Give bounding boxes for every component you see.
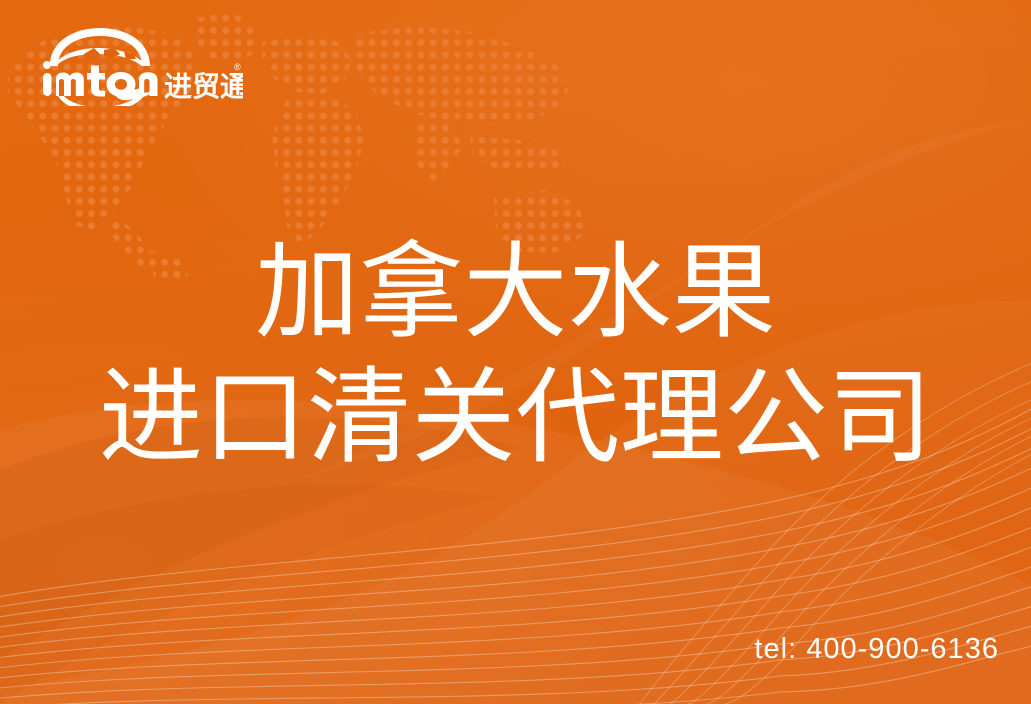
logo-trademark-symbol: ® xyxy=(234,62,241,72)
promo-banner: 进贸通 ® 加拿大水果 进口清关代理公司 tel: 400-900-6136 xyxy=(0,0,1031,704)
headline-line-1: 加拿大水果 xyxy=(0,232,1031,355)
globe-arc-icon xyxy=(50,28,150,66)
airplane-swoosh-icon xyxy=(58,88,154,106)
logo-chinese-name: 进贸通 xyxy=(164,70,243,103)
headline-line-2: 进口清关代理公司 xyxy=(0,357,1031,480)
company-logo[interactable]: 进贸通 ® xyxy=(38,26,243,106)
contact-phone[interactable]: tel: 400-900-6136 xyxy=(754,633,999,666)
headline-block: 加拿大水果 进口清关代理公司 xyxy=(0,232,1031,479)
